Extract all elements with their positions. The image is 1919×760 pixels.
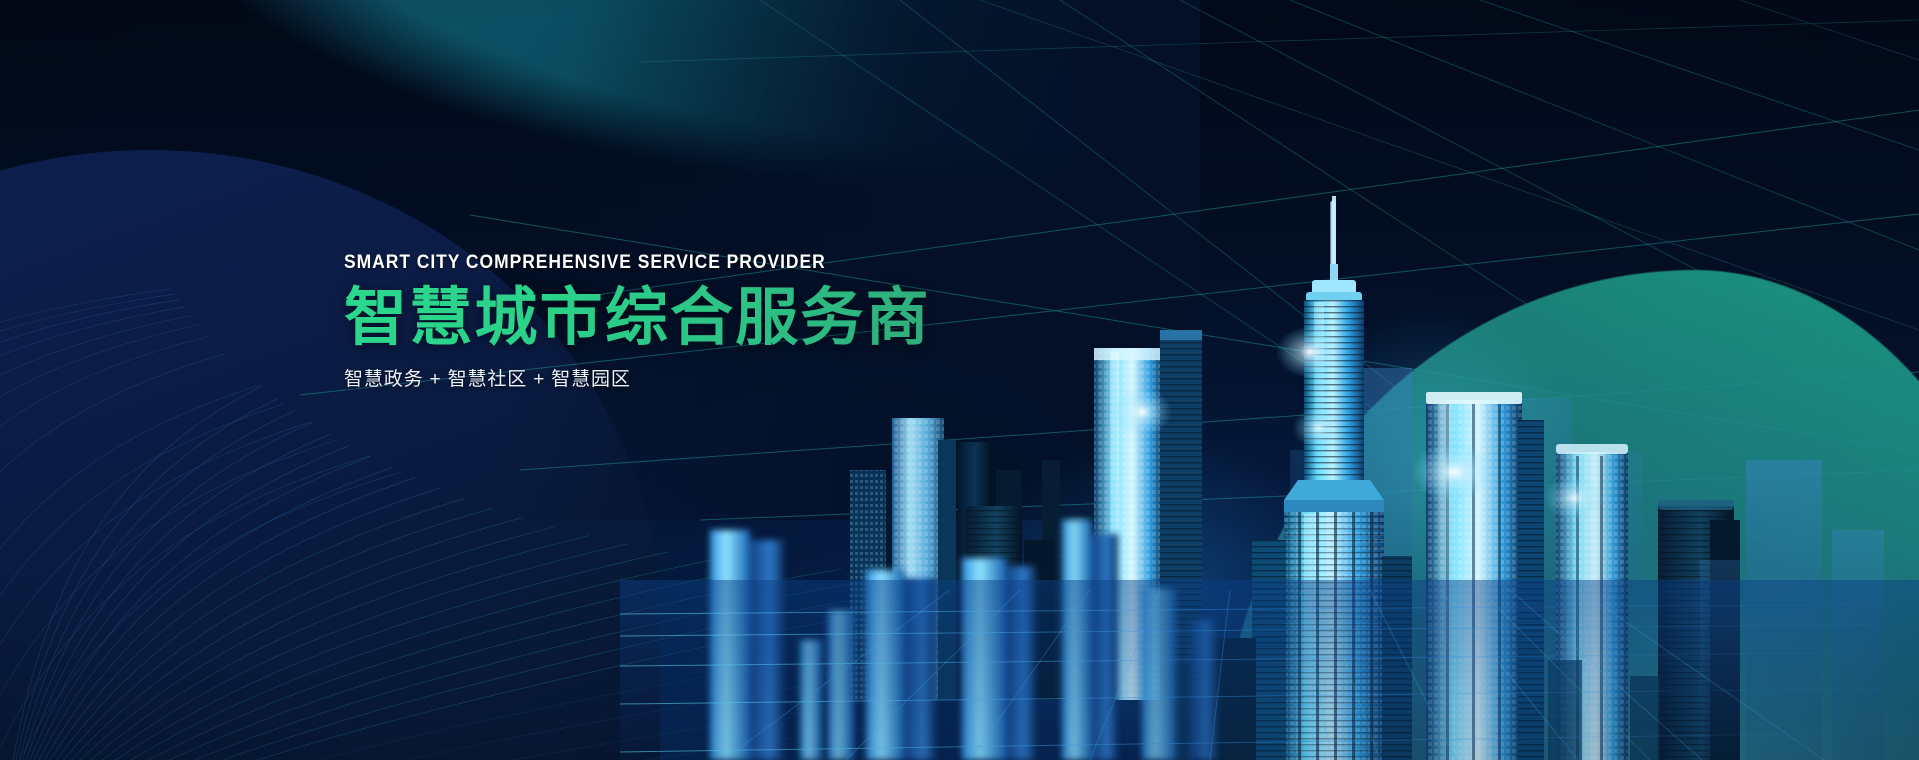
green-overlay-glow xyxy=(1319,400,1919,760)
hero-subline: 智慧政务 + 智慧社区 + 智慧园区 xyxy=(344,368,1064,393)
hero-eyebrow: SMART CITY COMPREHENSIVE SERVICE PROVIDE… xyxy=(344,253,1006,274)
hero-banner: SMART CITY COMPREHENSIVE SERVICE PROVIDE… xyxy=(0,0,1919,760)
hero-copy-block: SMART CITY COMPREHENSIVE SERVICE PROVIDE… xyxy=(344,253,1064,393)
hero-headline: 智慧城市综合服务商 xyxy=(344,282,1064,355)
